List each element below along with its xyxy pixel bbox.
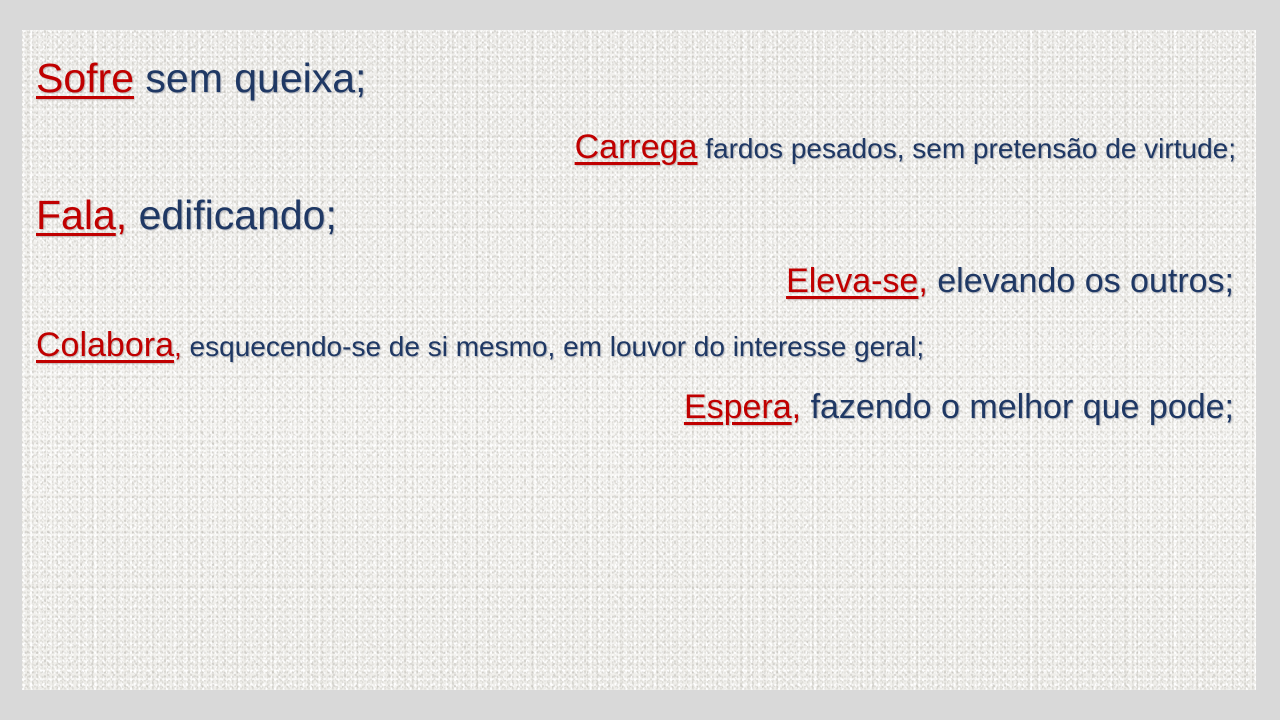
keyword-punct-5: , [174, 331, 182, 362]
line-body-5: esquecendo-se de si mesmo, em louvor do … [182, 331, 924, 362]
line-body-1: sem queixa; [134, 55, 366, 101]
keyword-punct-4: , [918, 262, 927, 300]
keyword-carrega: Carrega [575, 128, 698, 166]
keyword-colabora: Colabora [36, 326, 174, 364]
slide-line-2: Carrega fardos pesados, sem pretensão de… [36, 125, 1242, 169]
keyword-fala: Fala [36, 192, 116, 238]
keyword-punct-3: , [116, 192, 127, 238]
keyword-sofre: Sofre [36, 55, 134, 101]
slide-line-6: Espera, fazendo o melhor que pode; [36, 385, 1242, 429]
slide-text-block: Sofre sem queixa; Carrega fardos pesados… [22, 30, 1256, 429]
slide-line-4: Eleva-se, elevando os outros; [36, 259, 1242, 303]
slide-line-5: Colabora, esquecendo-se de si mesmo, em … [36, 323, 1242, 367]
line-body-2: fardos pesados, sem pretensão de virtude… [697, 133, 1236, 164]
line-body-4: elevando os outros; [928, 262, 1234, 300]
line-body-3: edificando; [127, 192, 337, 238]
keyword-punct-6: , [792, 388, 801, 426]
keyword-espera: Espera [684, 388, 792, 426]
slide-root: Sofre sem queixa; Carrega fardos pesados… [0, 0, 1280, 720]
slide-line-3: Fala, edificando; [36, 189, 1242, 242]
slide-content-area: Sofre sem queixa; Carrega fardos pesados… [22, 30, 1256, 690]
slide-line-1: Sofre sem queixa; [36, 52, 1242, 105]
line-body-6: fazendo o melhor que pode; [801, 388, 1234, 426]
keyword-eleva-se: Eleva-se [786, 262, 918, 300]
